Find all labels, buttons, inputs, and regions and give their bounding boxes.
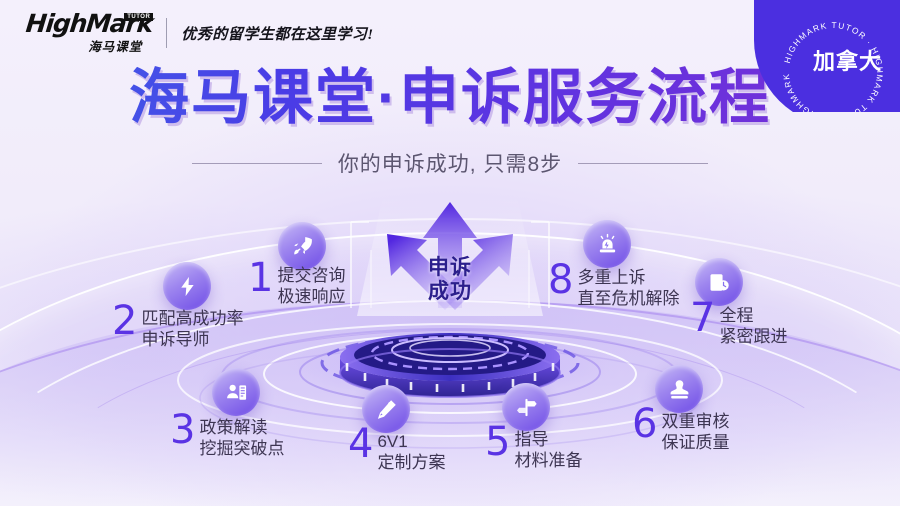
step-6-line2: 保证质量 <box>661 432 729 453</box>
step-1-line1: 提交咨询 <box>277 265 345 286</box>
subtitle-rule-left <box>192 163 322 164</box>
step-5-number: 5 <box>485 424 509 461</box>
step-4-label: 4 6V1 定制方案 <box>348 426 445 474</box>
step-4-number: 4 <box>348 426 372 463</box>
step-4-line2: 定制方案 <box>377 452 445 473</box>
hub-label-line2: 成功 <box>428 280 472 303</box>
step-1-label: 1 提交咨询 极速响应 <box>248 260 345 308</box>
step-2-text: 匹配高成功率 申诉导师 <box>141 303 243 351</box>
brand-tagline: 优秀的留学生都在这里学习! <box>181 23 373 44</box>
step-2-line1: 匹配高成功率 <box>141 308 243 329</box>
step-1-line2: 极速响应 <box>277 286 345 307</box>
step-6-line1: 双重审核 <box>661 411 729 432</box>
hub-label: 申诉 成功 <box>335 256 565 303</box>
step-8-label: 8 多重上诉 直至危机解除 <box>548 262 679 310</box>
logo-tutor-tag: TUTOR <box>124 13 153 21</box>
subtitle-text: 你的申诉成功, 只需8步 <box>338 148 562 178</box>
subtitle-rule-right <box>578 163 708 164</box>
alarm-light-icon <box>583 220 631 268</box>
logo-chinese-name: 海马课堂 <box>26 36 152 55</box>
step-4-line1: 6V1 <box>377 431 445 452</box>
step-2-line2: 申诉导师 <box>141 329 243 350</box>
step-7-line2: 紧密跟进 <box>719 326 787 347</box>
step-6-number: 6 <box>632 406 656 443</box>
step-6-text: 双重审核 保证质量 <box>661 406 729 454</box>
step-5-text: 指导 材料准备 <box>514 424 582 472</box>
header-divider <box>166 18 167 48</box>
step-5-label: 5 指导 材料准备 <box>485 424 582 472</box>
step-6-label: 6 双重审核 保证质量 <box>632 406 729 454</box>
step-3-number: 3 <box>170 412 194 449</box>
country-badge: HIGHMARK TUTOR · HIGHMARK TUTOR · HIGHMA… <box>748 0 900 112</box>
step-3-line2: 挖掘突破点 <box>199 438 284 459</box>
step-8-line2: 直至危机解除 <box>577 288 679 309</box>
step-2-number: 2 <box>112 303 136 340</box>
brand-header: HighMark TUTOR 海马课堂 优秀的留学生都在这里学习! <box>26 12 374 54</box>
step-8-number: 8 <box>548 262 572 299</box>
subtitle-row: 你的申诉成功, 只需8步 <box>0 148 900 178</box>
step-3-line1: 政策解读 <box>199 417 284 438</box>
step-5-line2: 材料准备 <box>514 450 582 471</box>
hub-label-line1: 申诉 <box>428 256 472 279</box>
step-1-number: 1 <box>248 260 272 297</box>
step-8-text: 多重上诉 直至危机解除 <box>577 262 679 310</box>
step-7-label: 7 全程 紧密跟进 <box>690 300 787 348</box>
infographic-canvas: HighMark TUTOR 海马课堂 优秀的留学生都在这里学习! HIGHMA… <box>0 0 900 506</box>
country-badge-label: 加拿大 <box>813 44 882 76</box>
step-3-label: 3 政策解读 挖掘突破点 <box>170 412 284 460</box>
step-8-line1: 多重上诉 <box>577 267 679 288</box>
step-5-line1: 指导 <box>514 429 582 450</box>
step-2-label: 2 匹配高成功率 申诉导师 <box>112 303 243 351</box>
step-4-text: 6V1 定制方案 <box>377 426 445 474</box>
policy-document-icon <box>212 368 260 416</box>
step-1-text: 提交咨询 极速响应 <box>277 260 345 308</box>
hub: 申诉 成功 <box>335 196 565 371</box>
step-7-text: 全程 紧密跟进 <box>719 300 787 348</box>
step-7-number: 7 <box>690 300 714 337</box>
step-7-line1: 全程 <box>719 305 787 326</box>
logo[interactable]: HighMark TUTOR 海马课堂 <box>26 12 152 54</box>
step-3-text: 政策解读 挖掘突破点 <box>199 412 284 460</box>
